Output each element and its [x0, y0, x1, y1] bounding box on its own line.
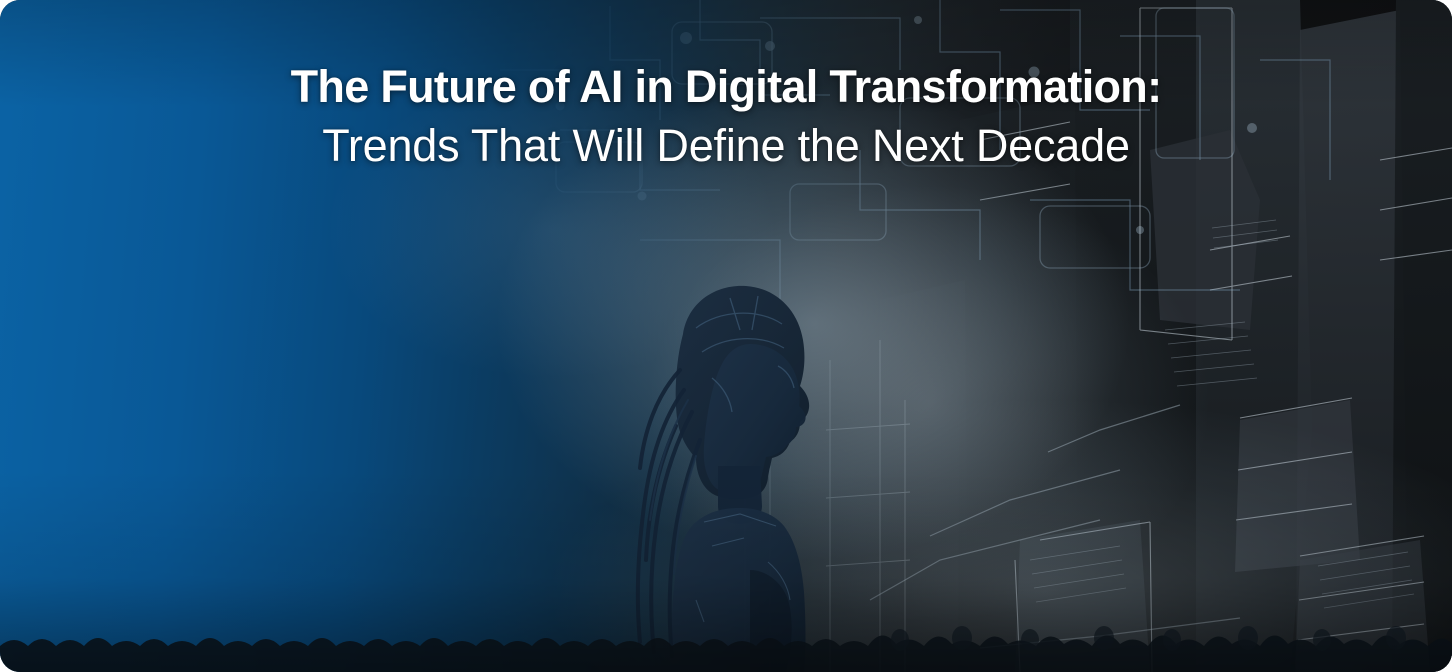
headline-block: The Future of AI in Digital Transformati…	[0, 58, 1452, 176]
screenshot-stage: The Future of AI in Digital Transformati…	[0, 0, 1452, 672]
crowd-silhouette	[0, 582, 1452, 672]
hero-banner: The Future of AI in Digital Transformati…	[0, 0, 1452, 672]
headline-primary: The Future of AI in Digital Transformati…	[40, 58, 1412, 116]
headline-secondary: Trends That Will Define the Next Decade	[40, 116, 1412, 176]
